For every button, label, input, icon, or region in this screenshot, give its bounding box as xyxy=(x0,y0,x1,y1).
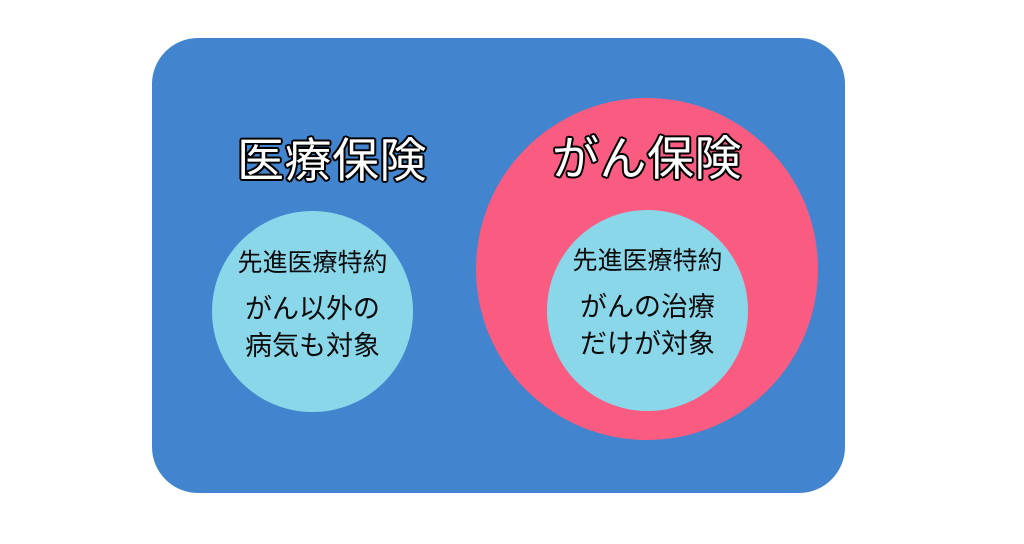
medical-rider-heading: 先進医療特約 xyxy=(212,250,413,275)
cancer-rider-line-2: だけが対象 xyxy=(547,326,748,363)
cancer-advanced-rider-text: 先進医療特約 がんの治療 だけが対象 xyxy=(547,248,748,364)
diagram-canvas: 医療保険 がん保険 先進医療特約 がん以外の 病気も対象 先進医療特約 がんの治… xyxy=(0,0,1024,544)
cancer-rider-line-1: がんの治療 xyxy=(547,289,748,326)
medical-insurance-title: 医療保険 xyxy=(232,138,432,185)
medical-rider-line-1: がん以外の xyxy=(212,291,413,328)
medical-advanced-rider-text: 先進医療特約 がん以外の 病気も対象 xyxy=(212,250,413,366)
medical-rider-line-2: 病気も対象 xyxy=(212,328,413,365)
cancer-insurance-title: がん保険 xyxy=(547,136,747,183)
cancer-rider-heading: 先進医療特約 xyxy=(547,248,748,273)
